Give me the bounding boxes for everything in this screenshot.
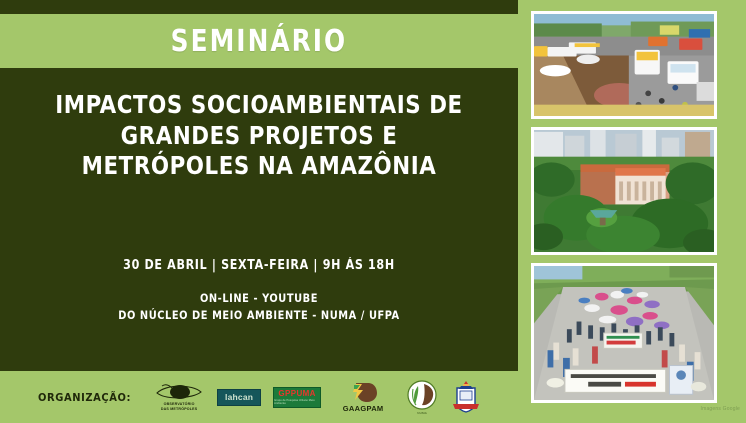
logo-gppuma-subtext: Grupo de Pesquisa Urbano Meio Ambiente — [274, 399, 320, 405]
logo-numa: NUMA — [405, 380, 439, 415]
organization-label: ORGANIZAÇÃO: — [38, 391, 131, 404]
poster-left-column: SEMINÁRIO IMPACTOS SOCIOAMBIENTAIS DE GR… — [0, 0, 518, 423]
eye-icon — [156, 383, 202, 401]
page-title: IMPACTOS SOCIOAMBIENTAIS DE GRANDES PROJ… — [40, 90, 479, 182]
logo-lahcan-text: lahcan — [225, 392, 253, 402]
logo-gppuma-text: GPPUMA — [278, 389, 316, 398]
logo-observatorio-das-metropoles: OBSERVATÓRIO DAS METRÓPOLES — [153, 383, 205, 412]
kicker-band: SEMINÁRIO — [0, 14, 518, 68]
footer-bar: ORGANIZAÇÃO: OBSERVATÓRIO DAS METRÓPOLES — [0, 371, 518, 423]
logo-observatorio-line2: DAS METRÓPOLES — [161, 407, 198, 411]
venue-line-1: ON-LINE - YOUTUBE — [40, 290, 479, 307]
logo-numa-text: NUMA — [405, 411, 439, 415]
logo-gaagpam: GAAGPAM — [333, 381, 393, 413]
seminar-poster: SEMINÁRIO IMPACTOS SOCIOAMBIENTAIS DE GR… — [0, 0, 746, 423]
photo-historic-building — [531, 127, 717, 255]
kicker-text: SEMINÁRIO — [171, 24, 347, 59]
event-date-line: 30 DE ABRIL | SEXTA-FEIRA | 9H ÁS 18H — [40, 258, 479, 273]
organizer-logo-row: OBSERVATÓRIO DAS METRÓPOLES lahcan GPPUM… — [153, 380, 481, 415]
event-venue: ON-LINE - YOUTUBE DO NÚCLEO DE MEIO AMBI… — [40, 290, 479, 323]
venue-line-2: DO NÚCLEO DE MEIO AMBIENTE - NUMA / UFPA — [40, 307, 479, 324]
image-credit: Imagens Google — [636, 406, 740, 412]
logo-observatorio-line1: OBSERVATÓRIO — [164, 402, 195, 406]
gaagpam-mark-icon — [348, 381, 378, 403]
photo-traffic-roadworks — [531, 11, 717, 119]
logo-ufpa — [451, 380, 481, 414]
logo-gaagpam-text: GAAGPAM — [333, 404, 393, 413]
logo-lahcan: lahcan — [217, 389, 261, 406]
ufpa-crest-icon — [453, 380, 479, 414]
poster-right-column: Imagens Google — [518, 0, 746, 423]
logo-gppuma: GPPUMA Grupo de Pesquisa Urbano Meio Amb… — [273, 387, 321, 408]
numa-circle-icon — [407, 380, 437, 410]
photo-protest-march — [531, 263, 717, 403]
logo-observatorio-caption: OBSERVATÓRIO DAS METRÓPOLES — [153, 402, 205, 412]
